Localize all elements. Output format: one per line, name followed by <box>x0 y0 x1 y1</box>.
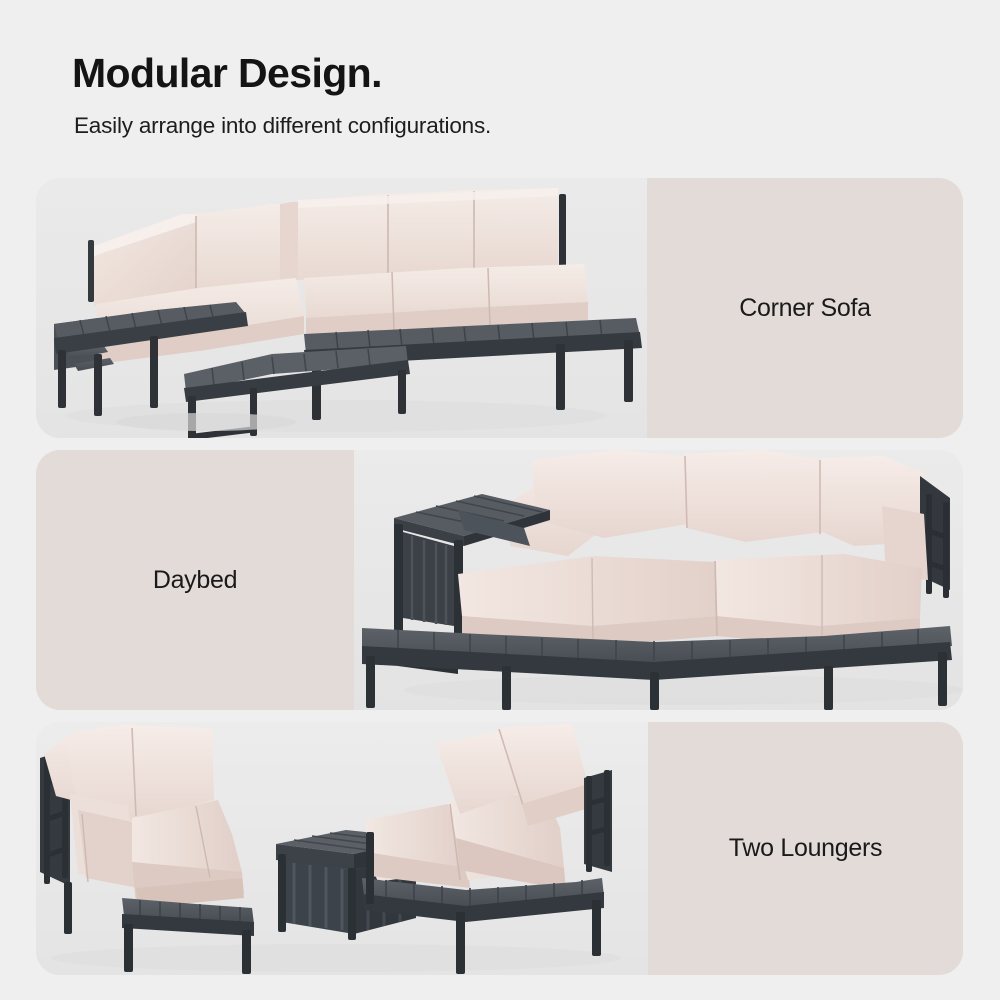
page-title: Modular Design. <box>72 52 932 95</box>
daybed-label-panel: Daybed <box>36 450 354 710</box>
corner-sofa-label-panel: Corner Sofa <box>647 178 963 438</box>
daybed-photo <box>354 450 963 710</box>
product-feature-page: Modular Design. Easily arrange into diff… <box>0 0 1000 1000</box>
config-row-daybed: Daybed <box>36 450 963 710</box>
corner-sofa-label: Corner Sofa <box>739 294 871 323</box>
daybed-label: Daybed <box>153 566 237 595</box>
corner-sofa-photo <box>36 178 647 438</box>
two-loungers-illustration <box>36 722 648 975</box>
two-loungers-label: Two Loungers <box>729 834 882 863</box>
page-subtitle: Easily arrange into different configurat… <box>74 113 932 139</box>
corner-sofa-illustration <box>36 178 647 438</box>
two-loungers-label-panel: Two Loungers <box>648 722 963 975</box>
daybed-illustration <box>354 450 963 710</box>
header: Modular Design. Easily arrange into diff… <box>72 52 932 139</box>
config-row-two-loungers: Two Loungers <box>36 722 963 975</box>
two-loungers-photo <box>36 722 648 975</box>
config-row-corner-sofa: Corner Sofa <box>36 178 963 438</box>
